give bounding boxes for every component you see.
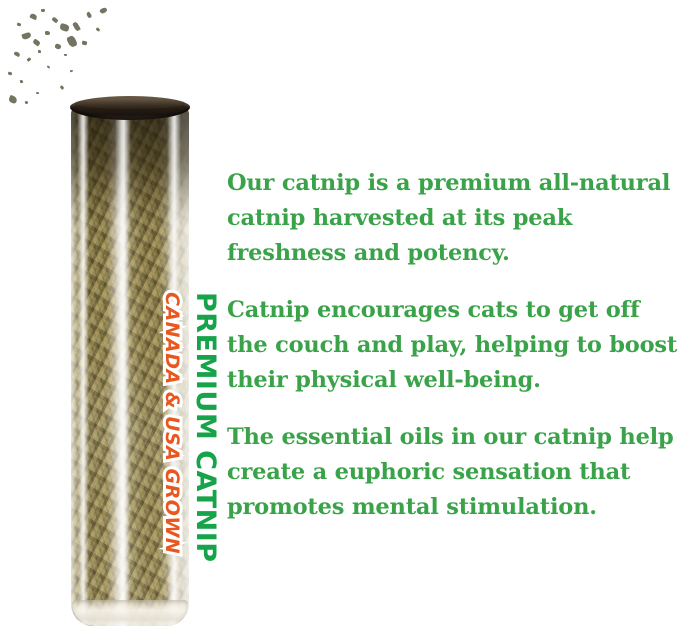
catnip-flake <box>99 6 108 14</box>
label-origin-value: CANADA & USA GROWN <box>161 292 183 554</box>
catnip-flake <box>86 11 93 18</box>
catnip-flake <box>60 85 65 90</box>
catnip-flake <box>8 95 18 104</box>
catnip-flake <box>70 70 73 73</box>
catnip-tube: CANADA & USA GROWN PREMIUM CATNIP <box>71 96 189 626</box>
catnip-flake <box>32 38 41 46</box>
catnip-flake <box>96 27 101 32</box>
catnip-flake <box>25 101 29 105</box>
catnip-flake <box>59 23 70 32</box>
catnip-flake <box>20 80 24 84</box>
catnip-flake <box>29 13 37 20</box>
catnip-flake <box>47 65 51 68</box>
catnip-flake <box>66 35 78 48</box>
catnip-flake <box>13 51 20 57</box>
catnip-flake <box>82 41 88 46</box>
catnip-flake <box>8 71 13 75</box>
catnip-flake <box>41 9 45 13</box>
catnip-flake <box>72 21 81 31</box>
catnip-flake <box>27 57 32 62</box>
product-marketing-image: CANADA & USA GROWN PREMIUM CATNIP Our ca… <box>0 0 679 643</box>
catnip-flake <box>45 31 50 35</box>
catnip-flake <box>21 32 31 40</box>
catnip-flake <box>51 17 58 24</box>
catnip-flake <box>36 92 39 94</box>
catnip-flake <box>38 50 41 53</box>
marketing-copy: Our catnip is a premium all-natural catn… <box>227 166 679 525</box>
label-product-value: PREMIUM CATNIP <box>190 292 221 563</box>
label-origin-text: CANADA & USA GROWN <box>161 292 183 554</box>
copy-paragraph-1: Our catnip is a premium all-natural catn… <box>227 166 679 271</box>
glass-highlight-icon <box>77 106 89 626</box>
tube-cap-rim <box>75 98 185 109</box>
catnip-flake <box>17 23 22 27</box>
catnip-flake <box>64 54 67 56</box>
glass-highlight-icon <box>115 106 131 626</box>
catnip-flake <box>54 43 61 50</box>
product-label: CANADA & USA GROWN PREMIUM CATNIP <box>157 292 229 640</box>
copy-paragraph-2: Catnip encourages cats to get off the co… <box>227 293 679 398</box>
label-product-text: PREMIUM CATNIP <box>190 292 221 563</box>
copy-paragraph-3: The essential oils in our catnip help cr… <box>227 420 679 525</box>
